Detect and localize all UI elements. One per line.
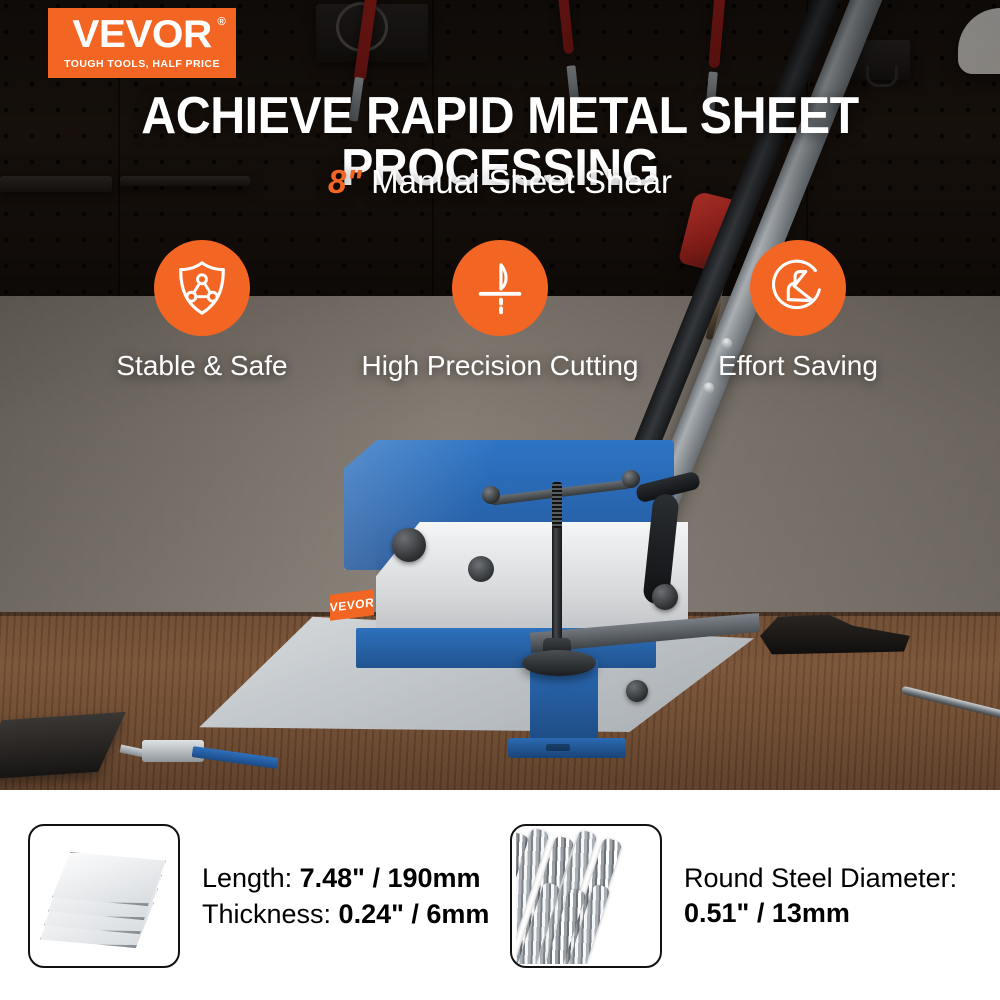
machine-bolt xyxy=(626,680,648,702)
spec-value: 0.51" / 13mm xyxy=(684,898,850,928)
spec-item-round-steel: Round Steel Diameter: 0.51" / 13mm xyxy=(510,824,980,968)
logo-wordmark: VEVOR® xyxy=(72,16,211,53)
spec-label: Round Steel Diameter: xyxy=(684,863,957,893)
spec-value: 7.48" / 190mm xyxy=(300,863,481,893)
screw-knob xyxy=(482,486,500,504)
hold-down-disc xyxy=(522,650,596,676)
hero-section: VEVOR VEVOR® TOUGH TOOLS, HALF PRICE ACH… xyxy=(0,0,1000,792)
machine-hole xyxy=(468,556,494,582)
spec-label: Thickness: xyxy=(202,899,339,929)
feature-label: Effort Saving xyxy=(718,350,878,382)
manual-sheet-shear-machine xyxy=(330,432,730,777)
spec-value: 0.24" / 6mm xyxy=(339,899,490,929)
specification-panel: Length: 7.48" / 190mm Thickness: 0.24" /… xyxy=(0,792,1000,1000)
logo-tagline: TOUGH TOOLS, HALF PRICE xyxy=(64,58,220,70)
screw-knob xyxy=(622,470,640,488)
feature-stable-safe: Stable & Safe xyxy=(57,240,347,382)
machine-bolt xyxy=(392,528,426,562)
effort-saving-hand-icon xyxy=(767,257,829,319)
spec-label: Length: xyxy=(202,863,300,893)
machine-foot-slot xyxy=(546,744,570,751)
spec-line-length: Length: 7.48" / 190mm xyxy=(202,860,489,896)
page-subtitle: 8" Manual Sheet Shear xyxy=(0,163,1000,201)
subtitle-text: Manual Sheet Shear xyxy=(371,163,672,200)
feature-icon-badge xyxy=(750,240,846,336)
registered-trademark-icon: ® xyxy=(217,17,225,28)
feature-precision-cutting: High Precision Cutting xyxy=(355,240,645,382)
feature-icon-badge xyxy=(452,240,548,336)
feature-label: High Precision Cutting xyxy=(361,350,638,382)
spec-line-diameter-label: Round Steel Diameter: xyxy=(684,861,957,896)
vevor-logo: VEVOR® TOUGH TOOLS, HALF PRICE xyxy=(48,8,236,78)
spec-text-block: Length: 7.48" / 190mm Thickness: 0.24" /… xyxy=(202,860,489,932)
base-sticker-text: VEVOR xyxy=(330,595,374,614)
base-vevor-sticker: VEVOR xyxy=(330,589,374,620)
spec-line-diameter-value: 0.51" / 13mm xyxy=(684,896,957,931)
spec-line-thickness: Thickness: 0.24" / 6mm xyxy=(202,896,489,932)
spec-text-block: Round Steel Diameter: 0.51" / 13mm xyxy=(684,861,957,931)
feature-effort-saving: Effort Saving xyxy=(653,240,943,382)
feature-row: Stable & Safe High Precision Cutting xyxy=(0,240,1000,390)
sheet-stack-art xyxy=(38,836,170,956)
subtitle-size: 8" xyxy=(328,163,362,200)
shield-check-icon xyxy=(171,257,233,319)
product-marketing-image: VEVOR VEVOR® TOUGH TOOLS, HALF PRICE ACH… xyxy=(0,0,1000,1000)
hold-down-screw-thread xyxy=(552,482,562,528)
spec-item-sheet: Length: 7.48" / 190mm Thickness: 0.24" /… xyxy=(28,824,498,968)
feature-icon-badge xyxy=(154,240,250,336)
logo-word-text: VEVOR xyxy=(72,13,211,56)
feature-label: Stable & Safe xyxy=(116,350,287,382)
precision-blade-icon xyxy=(469,257,531,319)
round-steel-rebar-image xyxy=(510,824,662,968)
rebar-art xyxy=(516,828,662,964)
caliper-tool xyxy=(120,738,230,764)
linkage-bolt xyxy=(652,584,678,610)
metal-sheet-stack-image xyxy=(28,824,180,968)
